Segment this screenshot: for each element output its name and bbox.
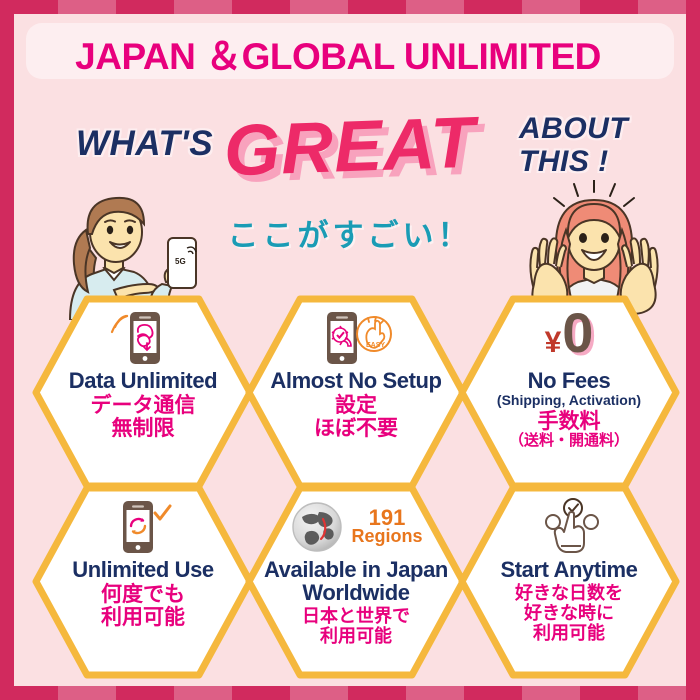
phone-easy-setup-icon: EASY [319, 307, 393, 369]
frame-top-dashes [0, 0, 700, 14]
frame-left-edge [0, 0, 14, 700]
card-subtitle-en: (Shipping, Activation) [497, 393, 641, 408]
feature-card-data-unlimited[interactable]: Data Unlimited データ通信 無制限 [32, 295, 254, 490]
globe-regions-icon: 191 Regions [289, 496, 422, 558]
catch-about-this: ABOUT THIS ! [519, 112, 628, 178]
frame-right-edge [686, 0, 700, 700]
easy-badge-label: EASY [366, 342, 385, 349]
card-title-en: Available in Japan Worldwide [259, 558, 454, 604]
feature-card-no-fees[interactable]: ¥ 0 No Fees (Shipping, Activation) 手数料 （… [458, 295, 680, 490]
feature-card-no-setup[interactable]: EASY Almost No Setup 設定 ほぼ不要 [245, 295, 467, 490]
card-subtitle-jp: （送料・開通料） [509, 433, 629, 449]
catch-great: GREAT [223, 102, 477, 193]
regions-number: 191 [351, 508, 422, 527]
card-title-en: Almost No Setup [270, 369, 441, 392]
catch-whats: WHAT'S [76, 124, 213, 164]
yen-zero-icon: ¥ 0 [545, 307, 594, 369]
feature-card-start-anytime[interactable]: Start Anytime 好きな日数を 好きな時に 利用可能 [458, 484, 680, 679]
phone-unlimited-data-icon [110, 307, 176, 369]
card-title-jp: データ通信 無制限 [91, 394, 196, 440]
regions-count-block: 191 Regions [351, 508, 422, 546]
card-title-en: Start Anytime [500, 558, 637, 581]
tap-clock-check-icon [533, 496, 605, 558]
card-title-en: Unlimited Use [72, 558, 214, 581]
card-title-jp: 好きな日数を 好きな時に 利用可能 [515, 583, 623, 643]
card-title-jp: 手数料 [538, 410, 601, 433]
phone-5g-label: 5G [175, 257, 186, 266]
card-title-en: Data Unlimited [69, 369, 217, 392]
frame-bottom-dashes [0, 686, 700, 700]
poster-canvas: JAPAN ＆GLOBAL UNLIMITED WHAT'S GREAT ABO… [14, 14, 686, 686]
card-title-jp: 日本と世界で 利用可能 [302, 606, 410, 646]
yen-symbol: ¥ [545, 326, 562, 360]
feature-card-unlimited-use[interactable]: Unlimited Use 何度でも 利用可能 [32, 484, 254, 679]
zero-digit: 0 [562, 307, 593, 359]
promo-poster: JAPAN ＆GLOBAL UNLIMITED WHAT'S GREAT ABO… [0, 0, 700, 700]
card-title-jp: 設定 ほぼ不要 [314, 394, 398, 440]
regions-label: Regions [351, 527, 422, 546]
card-title-jp: 何度でも 利用可能 [101, 583, 185, 629]
globe-icon [289, 499, 345, 555]
feature-card-available-worldwide[interactable]: 191 Regions Available in Japan Worldwide… [245, 484, 467, 679]
card-title-en: No Fees [528, 369, 611, 392]
page-title: JAPAN ＆GLOBAL UNLIMITED [14, 26, 662, 80]
phone-refresh-check-icon [111, 496, 175, 558]
